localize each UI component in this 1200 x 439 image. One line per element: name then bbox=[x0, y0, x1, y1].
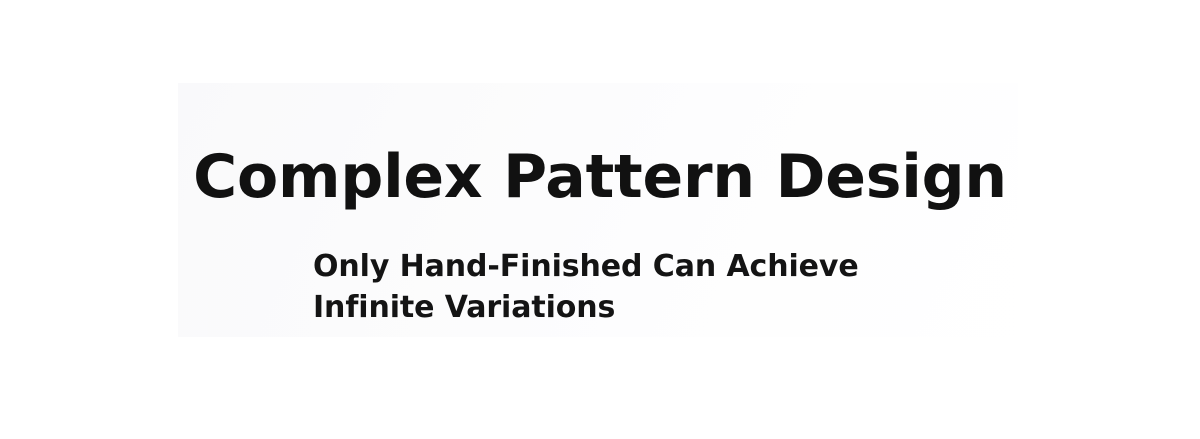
page-title: Complex Pattern Design bbox=[0, 141, 1200, 213]
hero-content: Complex Pattern Design Only Hand-Finishe… bbox=[0, 0, 1200, 439]
screenshot-root: Complex Pattern Design Only Hand-Finishe… bbox=[0, 0, 1200, 439]
page-subtitle: Only Hand-Finished Can Achieve Infinite … bbox=[313, 246, 885, 328]
